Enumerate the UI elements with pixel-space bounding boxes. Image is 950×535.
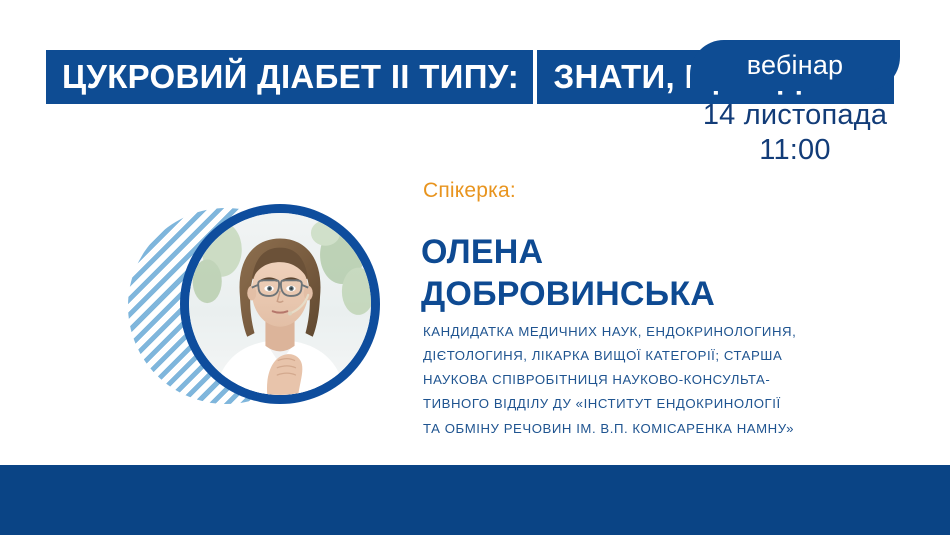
portrait-illustration [189,213,371,395]
bio-line: КАНДИДАТКА МЕДИЧНИХ НАУК, ЕНДОКРИНОЛОГИН… [423,320,893,344]
avatar [180,204,380,404]
event-date: 14 листопада [655,98,935,133]
bio-line: ТА ОБМІНУ РЕЧОВИН ІМ. В.П. КОМІСАРЕНКА Н… [423,417,893,441]
avatar-image [189,213,371,395]
speaker-last-name: ДОБРОВИНСЬКА [421,274,715,316]
webinar-badge: вебінар [690,40,900,91]
bio-line: НАУКОВА СПІВРОБІТНИЦЯ НАУКОВО-КОНСУЛЬТА- [423,368,893,392]
event-time: 11:00 [655,133,935,168]
speaker-label: Спікерка: [423,180,516,201]
speaker-bio: КАНДИДАТКА МЕДИЧНИХ НАУК, ЕНДОКРИНОЛОГИН… [423,320,893,441]
title-line-1: ЦУКРОВИЙ ДІАБЕТ ІІ ТИПУ: [46,50,533,104]
webinar-badge-label: вебінар [747,52,844,79]
speaker-name: ОЛЕНА ДОБРОВИНСЬКА [421,232,715,316]
schedule-block: 14 листопада 11:00 [655,98,935,169]
speaker-first-name: ОЛЕНА [421,232,715,274]
bio-line: ДІЄТОЛОГИНЯ, ЛІКАРКА ВИЩОЇ КАТЕГОРІЇ; СТ… [423,344,893,368]
footer-bar [0,465,950,535]
bio-line: ТИВНОГО ВІДДІЛУ ДУ «ІНСТИТУТ ЕНДОКРИНОЛО… [423,392,893,416]
webinar-banner: ЦУКРОВИЙ ДІАБЕТ ІІ ТИПУ: ЗНАТИ, ЩОБ ДІЯТ… [0,0,950,535]
